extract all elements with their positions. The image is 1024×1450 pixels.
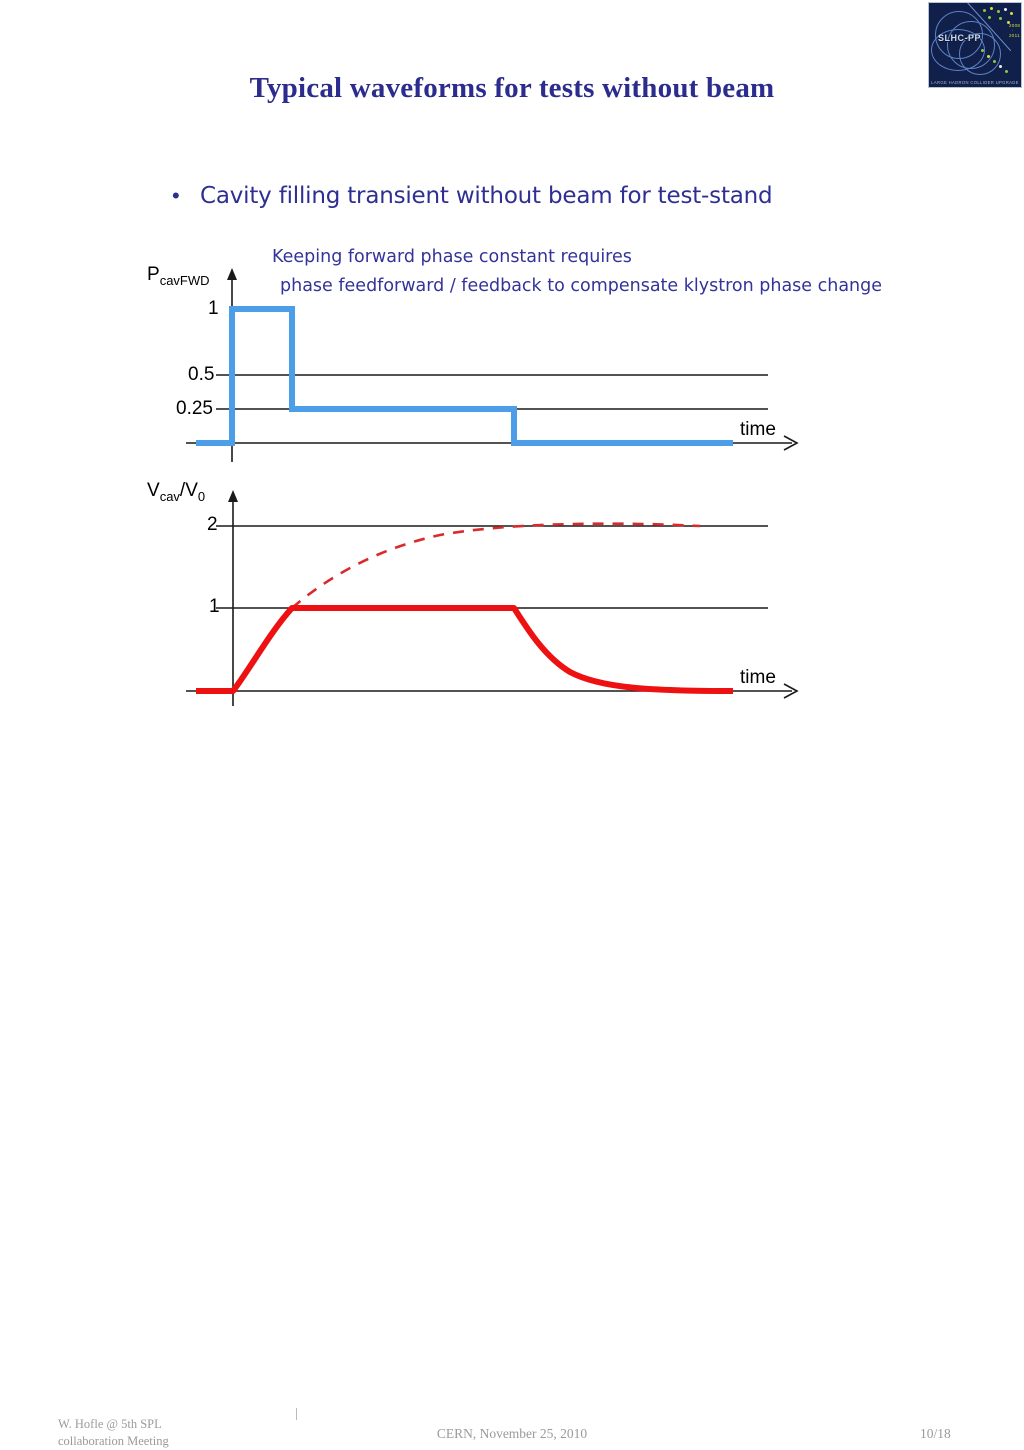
logo-dot-icon [987,55,990,58]
curve-cavity-voltage-asymptote [292,524,700,608]
logo-dot-icon [981,49,984,52]
chart1-x-axis-label: time [740,419,776,441]
page-title: Typical waveforms for tests without beam [0,72,1024,105]
logo-dot-icon [997,10,1000,13]
x-axis-arrow-icon [784,436,797,450]
y-axis-arrow-icon [228,490,238,502]
logo-dot-icon [990,7,993,10]
chart-forward-power: PcavFWD 1 0.5 0.25 time [0,0,1024,768]
chart2-ytick-2: 2 [207,514,218,536]
logo-dot-icon [999,65,1002,68]
waveform-forward-power [196,309,733,443]
logo-dot-icon [999,17,1002,20]
footer-page-number: 10/18 [920,1426,951,1442]
annotation-line-1: Keeping forward phase constant requires [272,247,632,267]
x-axis-arrow-icon [784,684,797,698]
bullet-item-text: Cavity filling transient without beam fo… [200,182,772,210]
logo-dot-icon [1010,12,1013,15]
logo-wordmark: SLHC-PP [938,33,981,43]
slide: SLHC-PP 2008 · 2011 LARGE HADRON COLLIDE… [0,0,1024,768]
bullet-list: • Cavity filling transient without beam … [172,182,972,210]
curve-cavity-voltage [196,608,733,691]
chart1-ytick-0.25: 0.25 [176,398,213,420]
bullet-marker-icon: • [172,182,182,210]
logo-dot-icon [1004,8,1007,11]
annotation-line-2: phase feedforward / feedback to compensa… [272,272,1012,301]
chart1-ytick-1: 1 [208,298,219,320]
chart2-ytick-1: 1 [209,596,220,618]
logo-dot-icon [993,60,996,63]
y-axis-arrow-icon [227,268,237,280]
logo-dot-icon [988,16,991,19]
footer-divider [296,1408,297,1420]
logo-years: 2008 · 2011 [1009,23,1016,38]
chart1-y-axis-title: PcavFWD [147,264,210,288]
annotation-note: Keeping forward phase constant requires … [272,243,1012,301]
chart2-x-axis-label: time [740,667,776,689]
slide-footer: W. Hofle @ 5th SPL collaboration Meeting… [0,702,1024,768]
chart2-y-axis-title: Vcav/V0 [147,480,205,504]
footer-event: CERN, November 25, 2010 [0,1426,1024,1442]
logo-dot-icon [983,9,986,12]
chart-cavity-voltage: Vcav/V0 2 1 time [0,0,1024,768]
chart1-ytick-0.5: 0.5 [188,364,214,386]
